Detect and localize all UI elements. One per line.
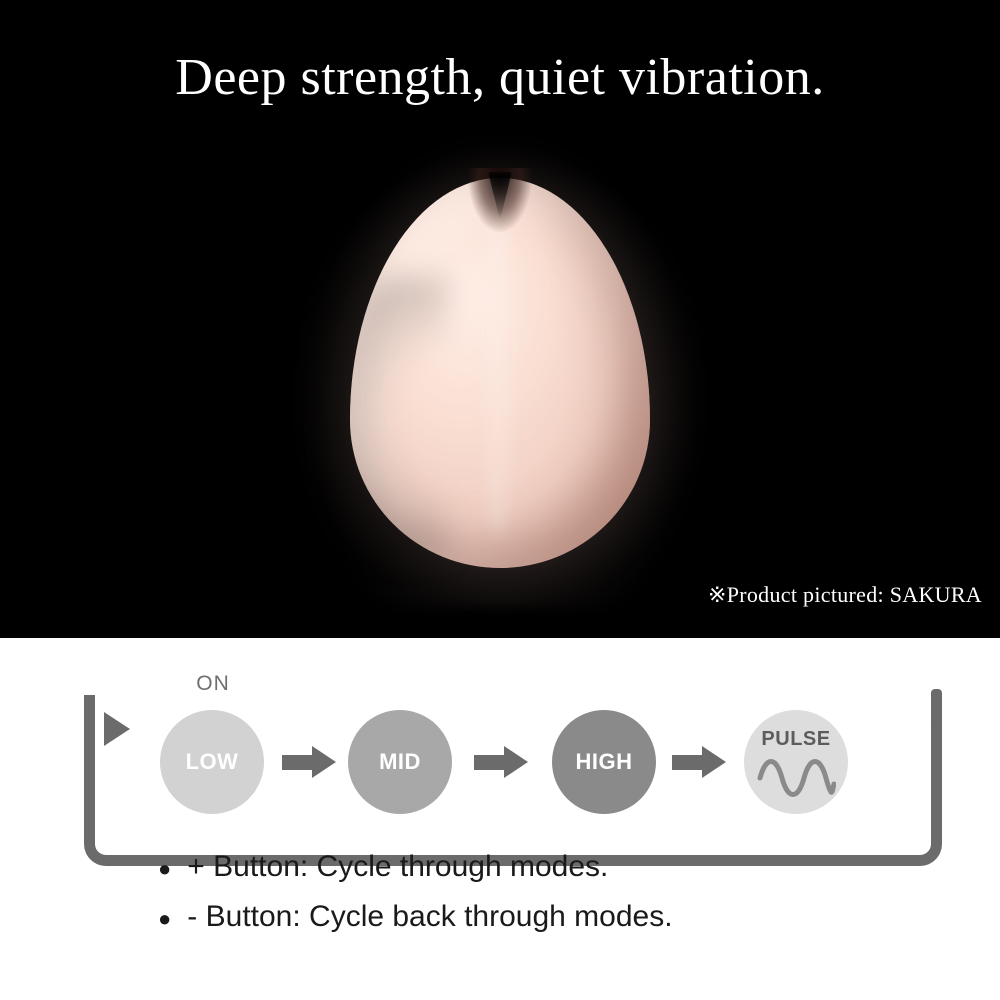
arrow-head <box>504 746 528 778</box>
arrow-head <box>312 746 336 778</box>
product-highlight <box>480 208 516 538</box>
mode-node-mid-label: MID <box>379 749 421 775</box>
arrow-shaft <box>474 755 506 770</box>
loop-left-segment <box>84 695 95 729</box>
pulse-node-inner: PULSE <box>744 710 848 814</box>
bullet-icon: ● <box>158 858 171 880</box>
arrow-head <box>702 746 726 778</box>
hero-panel: Deep strength, quiet vibration. ※Product… <box>0 0 1000 638</box>
bullet-icon: ● <box>158 908 171 930</box>
page-title: Deep strength, quiet vibration. <box>0 48 1000 107</box>
product-image <box>330 168 670 578</box>
mode-node-low: LOW <box>160 710 264 814</box>
list-item: ● - Button: Cycle back through modes. <box>0 900 1000 934</box>
mode-node-low-label: LOW <box>186 749 239 775</box>
mode-node-high-label: HIGH <box>576 749 633 775</box>
mode-cycle-diagram: ON LOW MID HIGH <box>0 652 1000 858</box>
arrow-mid-to-high-icon <box>474 746 528 778</box>
instruction-list: ● + Button: Cycle through modes. ● - But… <box>0 850 1000 950</box>
list-item: ● + Button: Cycle through modes. <box>0 850 1000 884</box>
product-caption: ※Product pictured: SAKURA <box>708 582 982 608</box>
instructions-panel: ON LOW MID HIGH <box>0 638 1000 1000</box>
on-label: ON <box>178 672 248 696</box>
arrow-shaft <box>282 755 314 770</box>
mode-node-mid: MID <box>348 710 452 814</box>
arrow-shaft <box>672 755 704 770</box>
mode-node-pulse-label: PULSE <box>744 728 848 751</box>
loop-right-segment <box>931 689 942 729</box>
loop-arrowhead-icon <box>104 712 130 746</box>
instruction-text-minus: - Button: Cycle back through modes. <box>187 900 672 934</box>
mode-node-pulse: PULSE <box>744 710 848 814</box>
product-infographic: Deep strength, quiet vibration. ※Product… <box>0 0 1000 1000</box>
wave-icon <box>756 758 836 798</box>
instruction-text-plus: + Button: Cycle through modes. <box>187 850 608 884</box>
arrow-low-to-mid-icon <box>282 746 336 778</box>
arrow-high-to-pulse-icon <box>672 746 726 778</box>
mode-node-high: HIGH <box>552 710 656 814</box>
product-shadow <box>338 278 448 558</box>
